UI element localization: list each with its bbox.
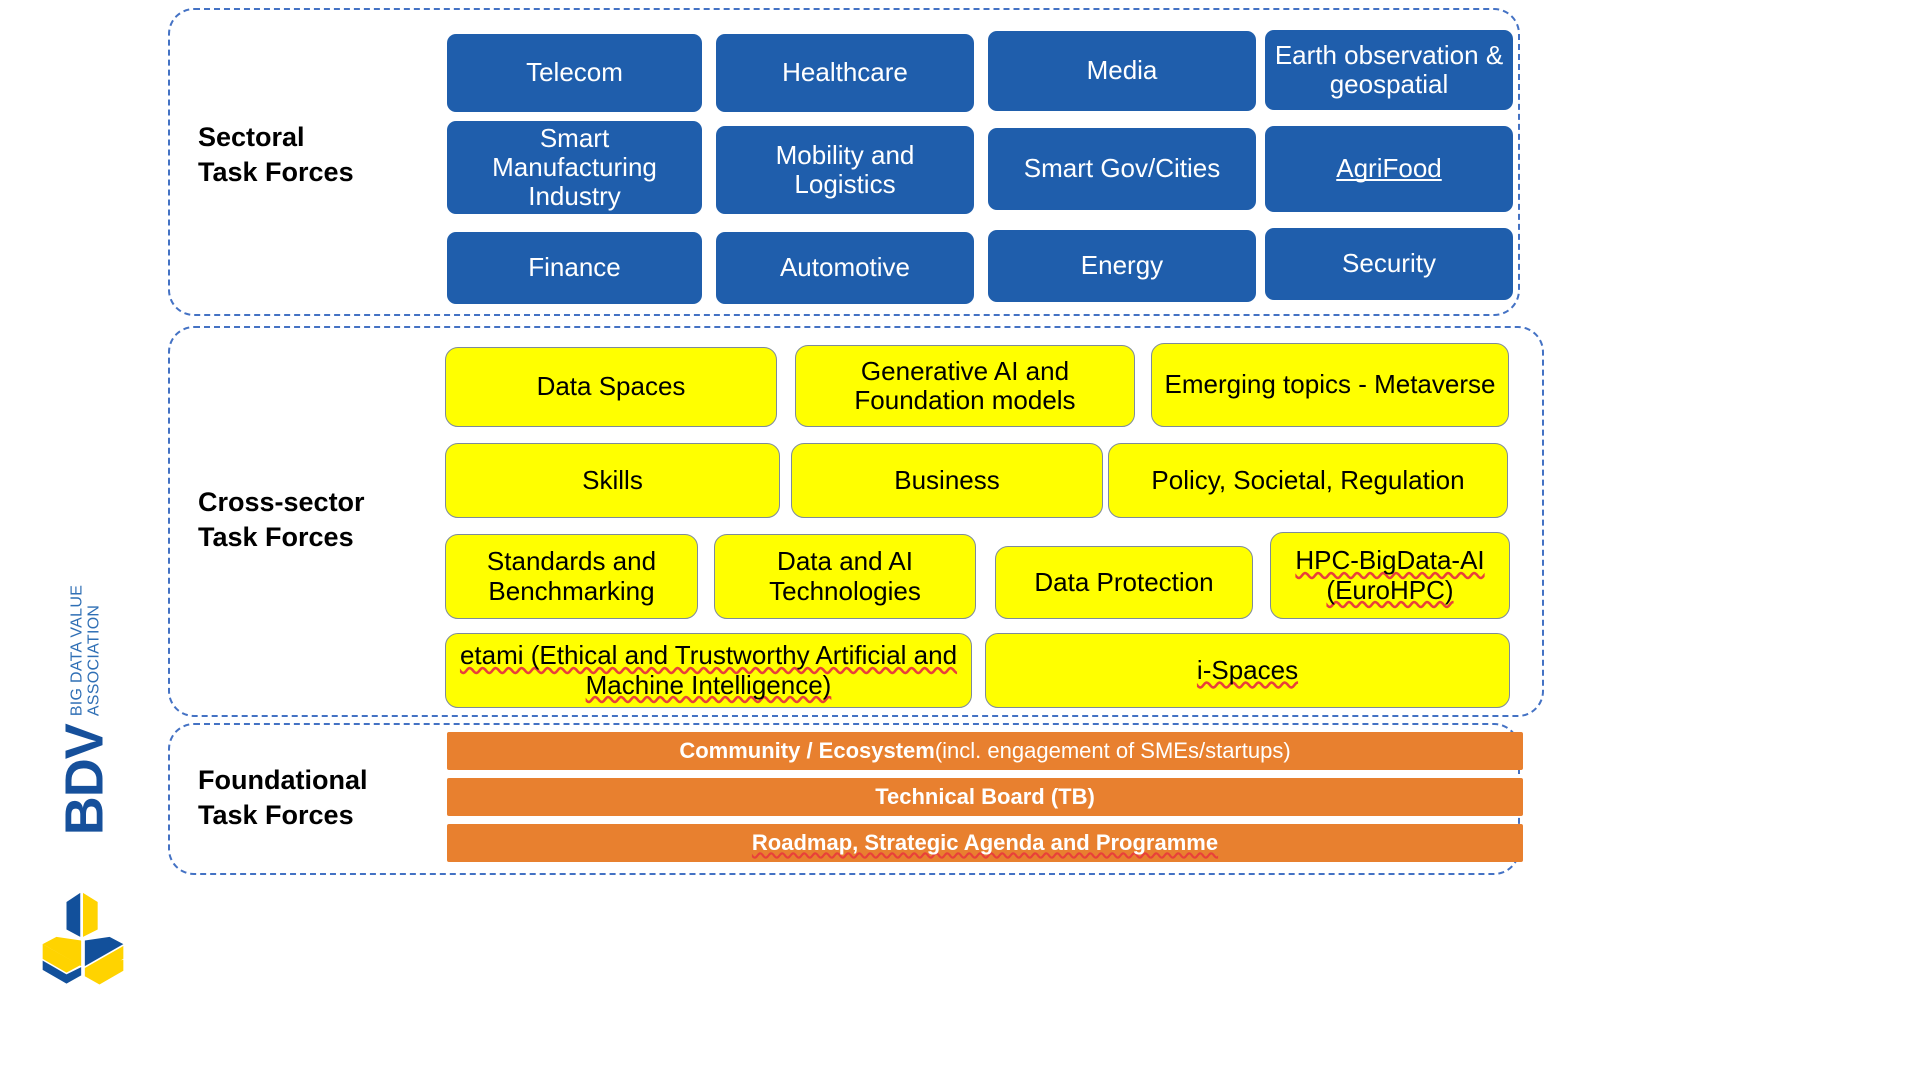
tf-bar-roadmap-strategic-agenda-programme[interactable]: Roadmap, Strategic Agenda and Programme	[447, 824, 1523, 862]
tf-box-standards-and-benchmarking[interactable]: Standards and Benchmarking	[445, 534, 698, 619]
tf-box-telecom[interactable]: Telecom	[447, 34, 702, 112]
technical-board-label: Technical Board (TB)	[875, 785, 1095, 810]
tf-box-mobility-and-logistics[interactable]: Mobility and Logistics	[716, 126, 974, 214]
bdv-tri-arrow-logo-icon	[28, 880, 138, 990]
roadmap-label: Roadmap, Strategic Agenda and Programme	[752, 831, 1218, 856]
tf-box-media[interactable]: Media	[988, 31, 1256, 111]
tf-box-smart-manufacturing-industry[interactable]: Smart Manufacturing Industry	[447, 121, 702, 214]
tf-box-generative-ai-foundation-models[interactable]: Generative AI and Foundation models	[795, 345, 1135, 427]
tf-box-agrifood[interactable]: AgriFood	[1265, 126, 1513, 212]
community-bold: Community / Ecosystem	[679, 739, 935, 764]
bdv-letters: BDV	[61, 724, 110, 835]
tf-box-policy-societal-regulation[interactable]: Policy, Societal, Regulation	[1108, 443, 1508, 518]
tf-box-security[interactable]: Security	[1265, 228, 1513, 300]
tf-box-business[interactable]: Business	[791, 443, 1103, 518]
tf-box-energy[interactable]: Energy	[988, 230, 1256, 302]
tf-box-data-and-ai-technologies[interactable]: Data and AI Technologies	[714, 534, 976, 619]
section-label-cross-sector: Cross-sector Task Forces	[198, 485, 428, 555]
community-regular: (incl. engagement of SMEs/startups)	[935, 739, 1291, 764]
tf-box-automotive[interactable]: Automotive	[716, 232, 974, 304]
tf-box-data-protection[interactable]: Data Protection	[995, 546, 1253, 619]
tf-box-skills[interactable]: Skills	[445, 443, 780, 518]
diagram-canvas: Task Forces structure BDV BIG DATA VALUE…	[0, 0, 1920, 1080]
tf-box-smart-gov-cities[interactable]: Smart Gov/Cities	[988, 128, 1256, 210]
tf-bar-technical-board[interactable]: Technical Board (TB)	[447, 778, 1523, 816]
tf-bar-community-ecosystem[interactable]: Community / Ecosystem (incl. engagement …	[447, 732, 1523, 770]
tf-box-etami[interactable]: etami (Ethical and Trustworthy Artificia…	[445, 633, 972, 708]
tf-box-data-spaces[interactable]: Data Spaces	[445, 347, 777, 427]
tf-box-hpc-bigdata-ai-eurohpc[interactable]: HPC-BigData-AI (EuroHPC)	[1270, 532, 1510, 619]
left-rail: Task Forces structure BDV BIG DATA VALUE…	[0, 0, 168, 1080]
bdv-wordmark: BDV BIG DATA VALUE ASSOCIATION	[30, 560, 140, 860]
tf-box-earth-observation-geospatial[interactable]: Earth observation & geospatial	[1265, 30, 1513, 110]
tf-box-finance[interactable]: Finance	[447, 232, 702, 304]
bdv-tagline-line1: BIG DATA VALUE	[69, 585, 86, 716]
section-label-foundational: Foundational Task Forces	[198, 763, 428, 833]
tf-box-healthcare[interactable]: Healthcare	[716, 34, 974, 112]
section-label-sectoral: Sectoral Task Forces	[198, 120, 428, 190]
tf-box-emerging-topics-metaverse[interactable]: Emerging topics - Metaverse	[1151, 343, 1509, 427]
bdv-tagline-line2: ASSOCIATION	[86, 585, 103, 716]
tf-box-i-spaces[interactable]: i-Spaces	[985, 633, 1510, 708]
